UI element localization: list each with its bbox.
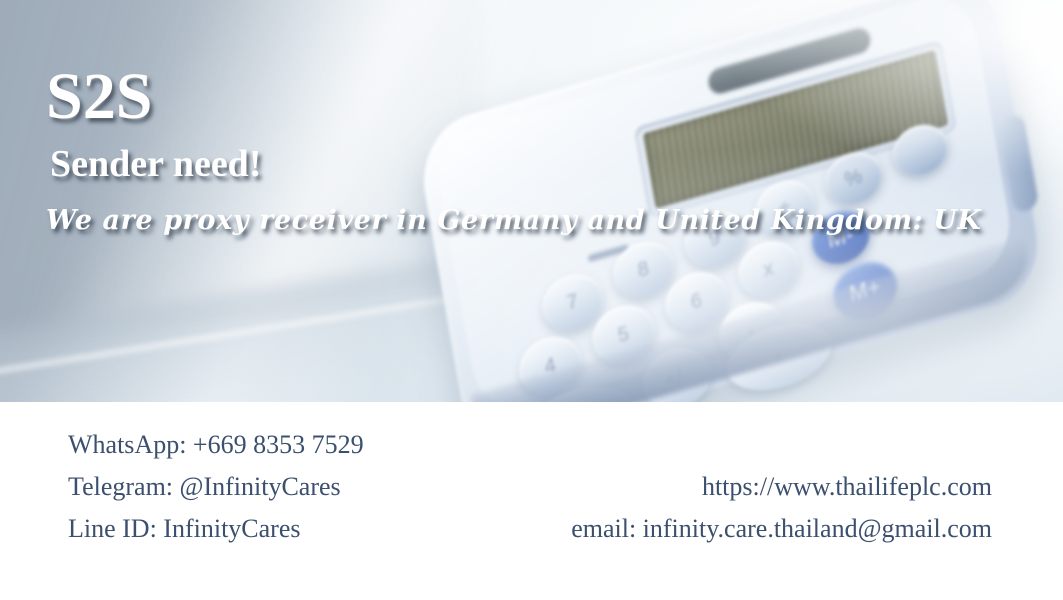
hero-text-block: S2S Sender need! (46, 64, 261, 186)
contact-column-right: https://www.thailifeplc.com email: infin… (571, 466, 992, 550)
contact-footer: WhatsApp: +669 8353 7529 Telegram: @Infi… (0, 402, 1063, 600)
contact-line-id[interactable]: Line ID: InfinityCares (68, 508, 364, 550)
hero-photo: 7 8 9 ÷ % 4 5 6 (0, 0, 1063, 402)
contact-whatsapp[interactable]: WhatsApp: +669 8353 7529 (68, 424, 364, 466)
promo-card: 7 8 9 ÷ % 4 5 6 (0, 0, 1063, 600)
contact-email[interactable]: email: infinity.care.thailand@gmail.com (571, 508, 992, 550)
hero-tagline: We are proxy receiver in Germany and Uni… (46, 206, 981, 236)
contact-telegram[interactable]: Telegram: @InfinityCares (68, 466, 364, 508)
hero-headline: Sender need! (50, 144, 261, 186)
brand-title: S2S (46, 64, 261, 130)
contact-column-left: WhatsApp: +669 8353 7529 Telegram: @Infi… (68, 424, 364, 550)
contact-website[interactable]: https://www.thailifeplc.com (571, 466, 992, 508)
